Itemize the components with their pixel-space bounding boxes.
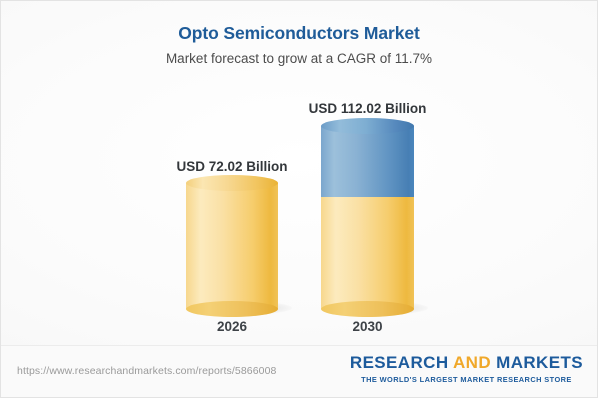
cylinder-bottom-ellipse <box>321 301 414 317</box>
cylinder-body <box>186 183 278 309</box>
bar-group-2030: USD 112.02 Billion 2030 <box>321 1 414 346</box>
bar-2030-segment-growth[interactable] <box>321 126 414 197</box>
cylinder-body <box>321 197 414 309</box>
cylinder-top-ellipse <box>321 118 414 134</box>
category-label-2030: 2030 <box>258 319 478 334</box>
brand-logo-research: RESEARCH <box>350 353 453 372</box>
bar-value-label-2026: USD 72.02 Billion <box>122 159 342 174</box>
brand-logo-tagline: THE WORLD'S LARGEST MARKET RESEARCH STOR… <box>350 375 583 384</box>
bar-group-2026: USD 72.02 Billion 2026 <box>186 1 278 346</box>
cylinder-body <box>321 126 414 197</box>
brand-logo-and: AND <box>453 353 491 372</box>
cylinder-top-ellipse <box>186 175 278 191</box>
chart-card: Opto Semiconductors Market Market foreca… <box>0 0 598 398</box>
brand-logo-wordmark: RESEARCH AND MARKETS <box>350 354 583 372</box>
brand-logo-markets: MARKETS <box>491 353 583 372</box>
bar-2030-segment-base[interactable] <box>321 197 414 309</box>
bar-2026-segment-base[interactable] <box>186 183 278 309</box>
cylinder-bottom-ellipse <box>186 301 278 317</box>
plot-area: USD 72.02 Billion 2026 USD 112.02 Billio… <box>1 1 597 346</box>
report-url-link[interactable]: https://www.researchandmarkets.com/repor… <box>17 365 276 377</box>
footer: https://www.researchandmarkets.com/repor… <box>1 345 597 397</box>
bar-value-label-2030: USD 112.02 Billion <box>258 101 478 116</box>
brand-logo[interactable]: RESEARCH AND MARKETS THE WORLD'S LARGEST… <box>350 354 583 384</box>
